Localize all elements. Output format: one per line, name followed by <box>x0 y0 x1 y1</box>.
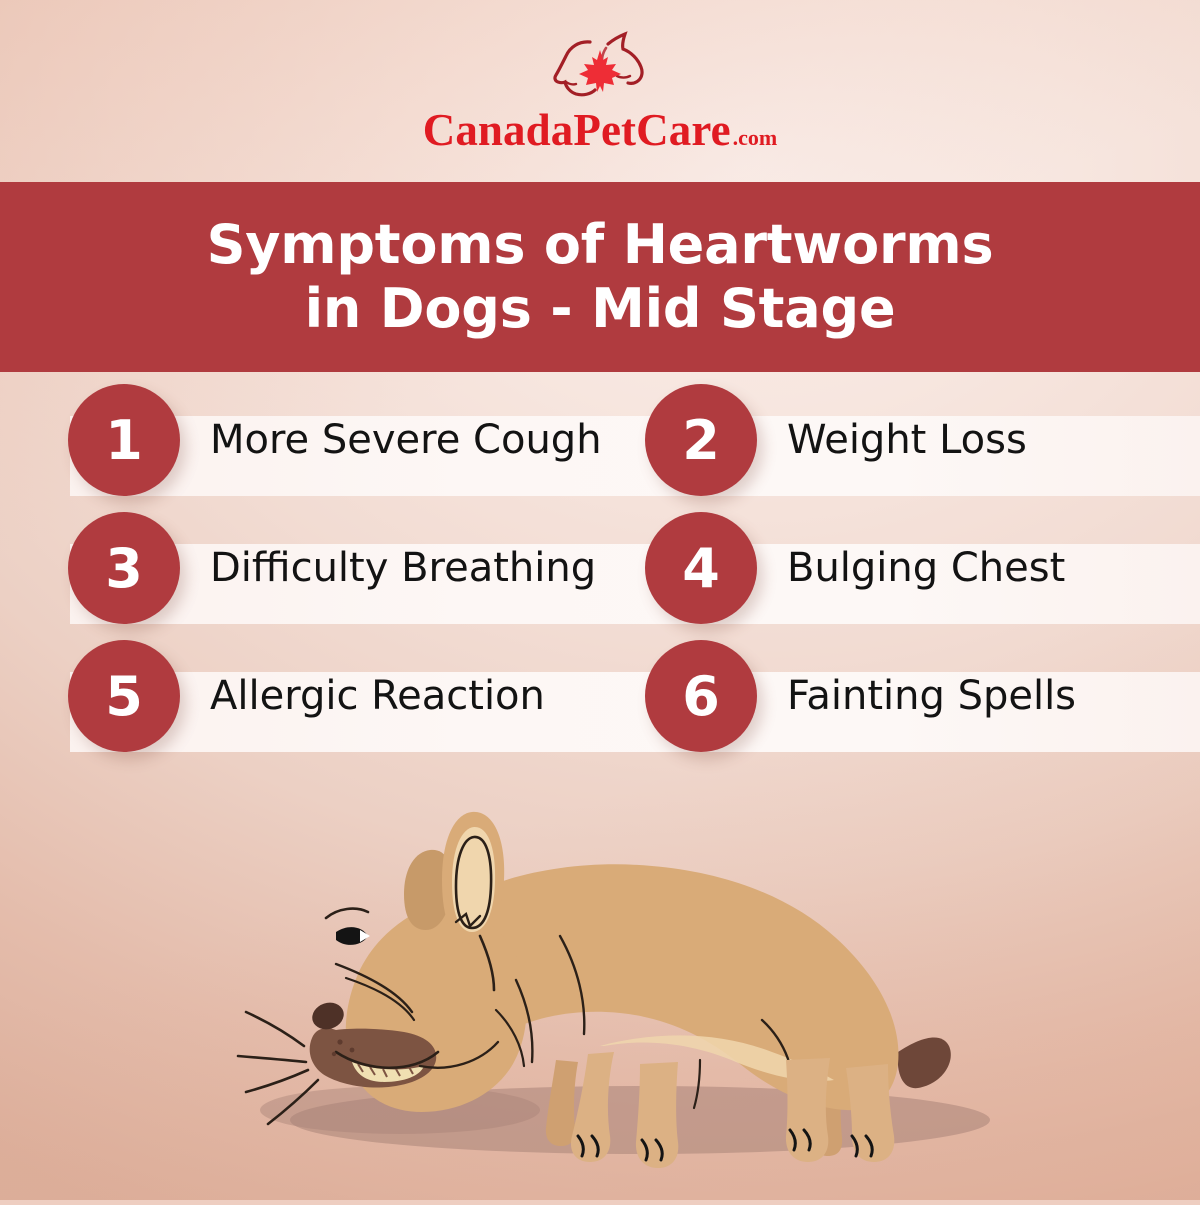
dog-front-leg-2 <box>636 1062 678 1168</box>
brand-header: CanadaPetCare .com <box>0 0 1200 182</box>
dog-rear-leg <box>786 1058 830 1162</box>
symptom-label: Bulging Chest <box>787 512 1065 624</box>
symptom-number-badge: 4 <box>645 512 757 624</box>
symptom-row: 3 Difficulty Breathing 4 Bulging Chest <box>0 544 1200 624</box>
symptom-number-badge: 2 <box>645 384 757 496</box>
page-title-line-2: in Dogs - Mid Stage <box>305 277 896 341</box>
brand-name: CanadaPetCare <box>423 108 731 153</box>
symptom-label: Weight Loss <box>787 384 1027 496</box>
brand-tld: .com <box>733 127 778 149</box>
dog-nose <box>309 999 347 1034</box>
brand-wordmark: CanadaPetCare .com <box>423 108 778 153</box>
symptom-row: 1 More Severe Cough 2 Weight Loss <box>0 416 1200 496</box>
page-title-line-1: Symptoms of Heartworms <box>207 213 994 277</box>
symptom-label: Difficulty Breathing <box>210 512 596 624</box>
symptom-number-badge: 1 <box>68 384 180 496</box>
title-banner: Symptoms of Heartworms in Dogs - Mid Sta… <box>0 182 1200 372</box>
dog-cat-maple-leaf-logo-icon <box>546 30 654 106</box>
french-bulldog-illustration <box>0 680 1200 1200</box>
dog-rear-leg-2 <box>846 1064 894 1162</box>
symptom-number-badge: 3 <box>68 512 180 624</box>
symptom-label: More Severe Cough <box>210 384 602 496</box>
dog-tail <box>898 1037 951 1088</box>
